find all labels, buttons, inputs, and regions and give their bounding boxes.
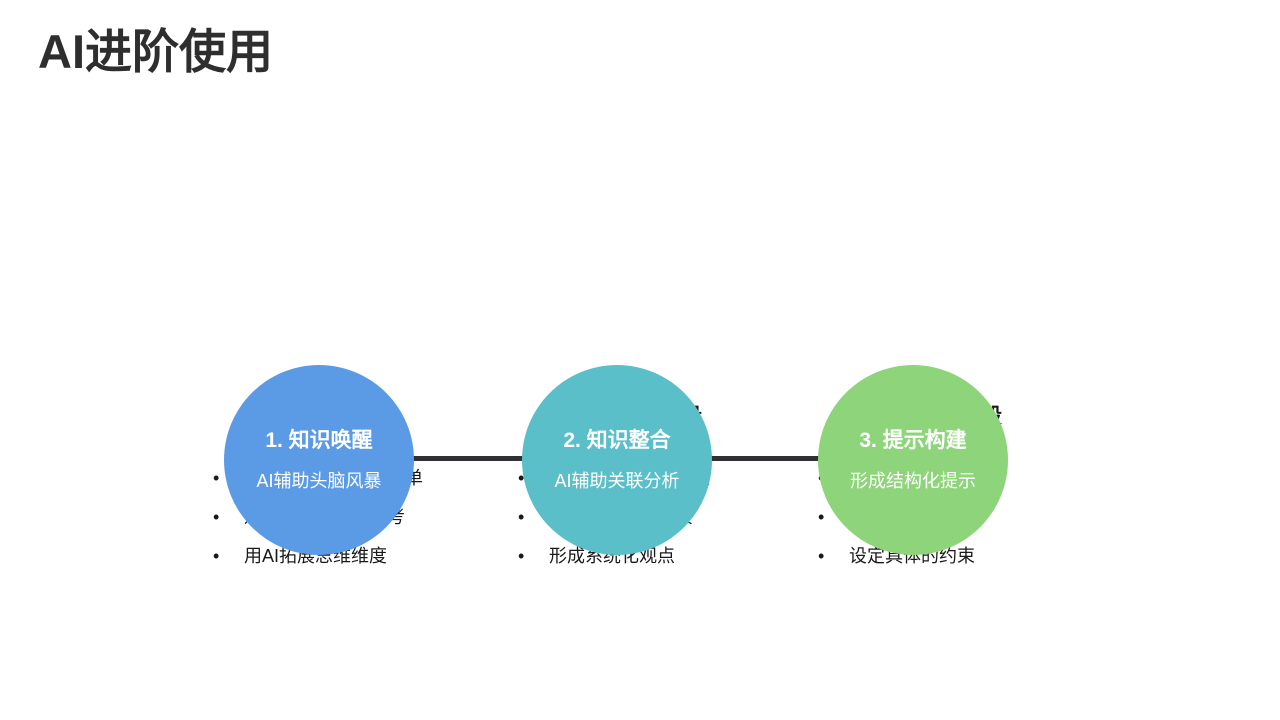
flow-node-subtitle: AI辅助头脑风暴: [256, 472, 381, 492]
flow-node-title: 2. 知识整合: [563, 429, 670, 452]
slide-canvas: AI进阶使用 1. 知识唤醒 AI辅助头脑风暴 2. 知识整合 AI辅助关联分析…: [0, 0, 1280, 720]
flow-node-subtitle: AI辅助关联分析: [554, 472, 679, 492]
bullet-dot-icon: •: [518, 547, 524, 565]
page-title: AI进阶使用: [38, 24, 273, 80]
bullet-dot-icon: •: [518, 508, 524, 526]
list-item: • 形成系统化观点: [518, 547, 800, 565]
flow-node-title: 1. 知识唤醒: [265, 429, 372, 452]
flow-node-prompt-construction[interactable]: 3. 提示构建 形成结构化提示: [818, 365, 1008, 555]
bullet-dot-icon: •: [213, 508, 219, 526]
flow-node-knowledge-integration[interactable]: 2. 知识整合 AI辅助关联分析: [522, 365, 712, 555]
flow-node-knowledge-awakening[interactable]: 1. 知识唤醒 AI辅助头脑风暴: [224, 365, 414, 555]
flow-node-subtitle: 形成结构化提示: [850, 472, 976, 492]
bullet-dot-icon: •: [818, 508, 824, 526]
bullet-dot-icon: •: [213, 547, 219, 565]
bullet-dot-icon: •: [818, 547, 824, 565]
bullet-dot-icon: •: [213, 469, 219, 487]
list-item: • 用AI拓展思维维度: [213, 547, 495, 565]
flow-node-title: 3. 提示构建: [859, 429, 966, 452]
process-flow-diagram: 1. 知识唤醒 AI辅助头脑风暴 2. 知识整合 AI辅助关联分析 3. 提示构…: [0, 182, 1280, 382]
list-item: • 设定具体的约束: [818, 547, 1100, 565]
